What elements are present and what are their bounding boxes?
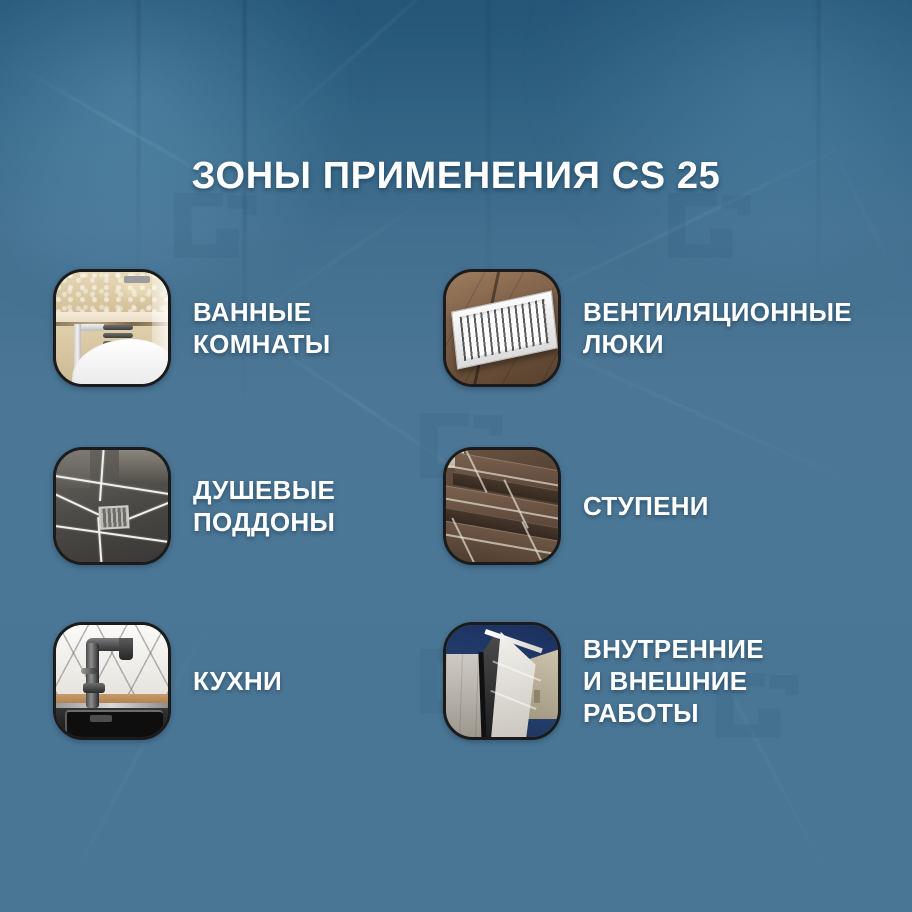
- bathroom-photo: [53, 269, 171, 387]
- zone-card-label: ВНУТРЕННИЕ И ВНЕШНИЕ РАБОТЫ: [583, 633, 764, 729]
- zone-card-shower-trays[interactable]: ДУШЕВЫЕ ПОДДОНЫ: [53, 447, 335, 565]
- zone-card-steps[interactable]: СТУПЕНИ: [443, 447, 709, 565]
- zone-card-ventilation-hatches[interactable]: ВЕНТИЛЯЦИОННЫЕ ЛЮКИ: [443, 269, 852, 387]
- zone-card-label: КУХНИ: [193, 665, 282, 697]
- shower-tray-photo: [53, 447, 171, 565]
- zone-card-indoor-outdoor-works[interactable]: ВНУТРЕННИЕ И ВНЕШНИЕ РАБОТЫ: [443, 622, 764, 740]
- indoor-outdoor-works-photo: [443, 622, 561, 740]
- zone-card-label: ДУШЕВЫЕ ПОДДОНЫ: [193, 474, 335, 538]
- poster-canvas: ЗОНЫ ПРИМЕНЕНИЯ CS 25 ВАННЫЕ КОМНА: [0, 0, 912, 912]
- zone-card-label: ВАННЫЕ КОМНАТЫ: [193, 296, 330, 360]
- zone-card-bathrooms[interactable]: ВАННЫЕ КОМНАТЫ: [53, 269, 330, 387]
- zone-card-kitchens[interactable]: КУХНИ: [53, 622, 282, 740]
- kitchen-photo: [53, 622, 171, 740]
- zone-card-label: СТУПЕНИ: [583, 490, 709, 522]
- zone-card-label: ВЕНТИЛЯЦИОННЫЕ ЛЮКИ: [583, 296, 852, 360]
- application-zones-grid: ВАННЫЕ КОМНАТЫ ВЕНТИЛЯЦИОННЫЕ ЛЮКИ: [0, 0, 912, 912]
- ventilation-hatch-photo: [443, 269, 561, 387]
- steps-photo: [443, 447, 561, 565]
